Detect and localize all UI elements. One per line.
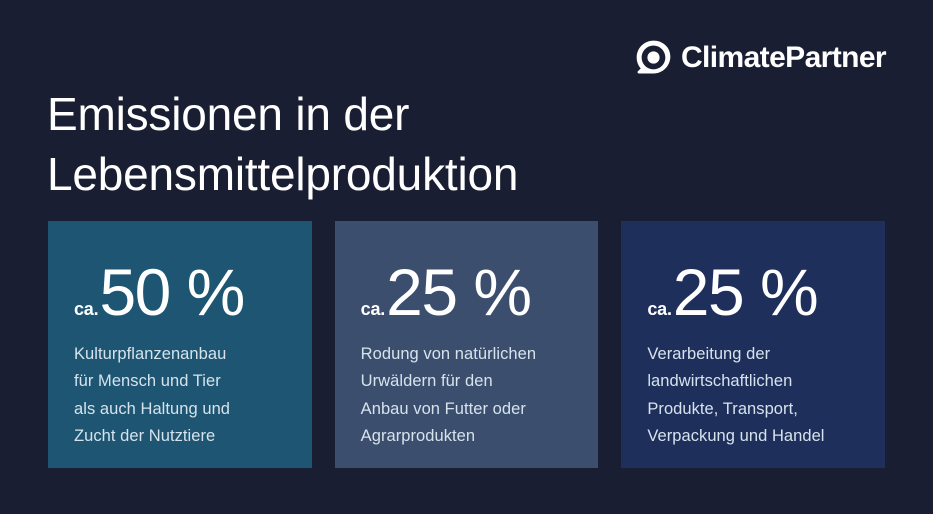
stat-figure: ca. 25 % (361, 259, 531, 325)
stat-value: 50 % (99, 259, 243, 325)
stat-card-rodung: ca. 25 % Rodung von natürlichen Urwälder… (335, 221, 599, 468)
brand-name: ClimatePartner (681, 43, 886, 73)
stat-figure: ca. 50 % (74, 259, 244, 325)
climatepartner-logo: ClimatePartner (635, 39, 886, 76)
climatepartner-circle-icon (635, 39, 672, 76)
stat-card-kulturpflanzenanbau: ca. 50 % Kulturpflanzenanbau für Mensch … (48, 221, 312, 468)
stat-figure: ca. 25 % (647, 259, 817, 325)
stat-prefix: ca. (361, 299, 385, 320)
stat-description: Kulturpflanzenanbau für Mensch und Tier … (74, 341, 296, 451)
page-title: Emissionen in der Lebensmittelproduktion (47, 84, 687, 205)
stat-card-verarbeitung: ca. 25 % Verarbeitung der landwirtschaft… (621, 221, 885, 468)
stat-prefix: ca. (74, 299, 98, 320)
stat-card-list: ca. 50 % Kulturpflanzenanbau für Mensch … (48, 221, 885, 468)
infographic-canvas: ClimatePartner Emissionen in der Lebensm… (0, 0, 933, 514)
stat-description: Rodung von natürlichen Urwäldern für den… (361, 341, 583, 451)
stat-value: 25 % (673, 259, 817, 325)
stat-prefix: ca. (647, 299, 671, 320)
stat-value: 25 % (386, 259, 530, 325)
stat-description: Verarbeitung der landwirtschaftlichen Pr… (647, 341, 869, 451)
